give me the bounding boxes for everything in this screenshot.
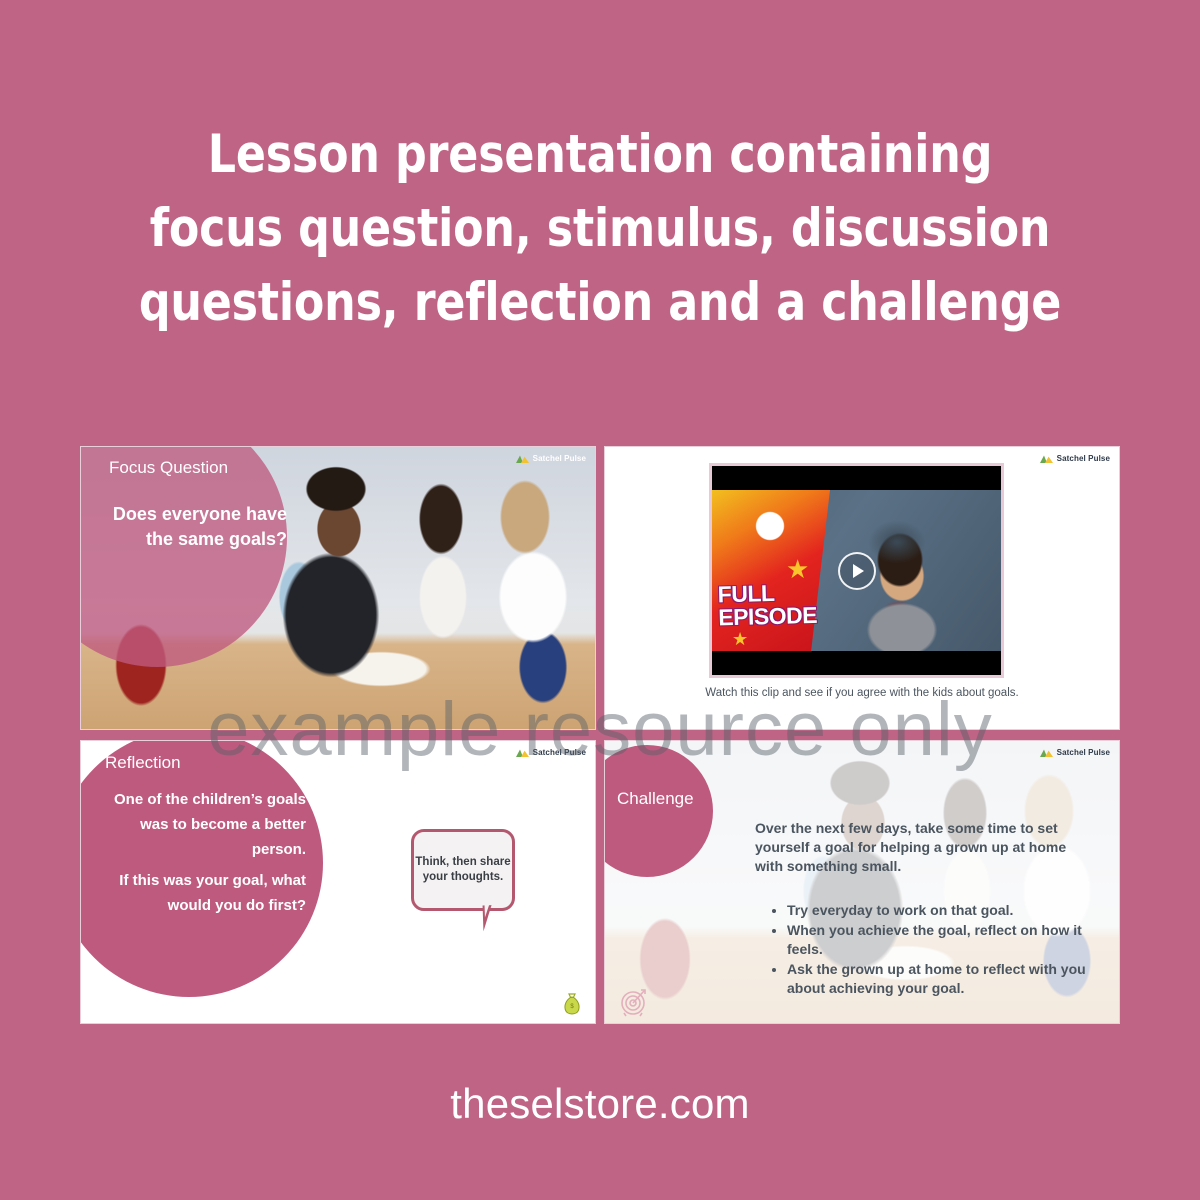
- star-icon: ★: [786, 556, 809, 582]
- reflection-paragraph-2: If this was your goal, what would you do…: [101, 868, 306, 918]
- brand-logo-text: Satchel Pulse: [533, 748, 586, 757]
- challenge-bullet-list: Try everyday to work on that goal. When …: [763, 901, 1117, 999]
- mountain-icon: [516, 454, 529, 463]
- challenge-bullet: When you achieve the goal, reflect on ho…: [787, 921, 1117, 959]
- brand-logo-text: Satchel Pulse: [1057, 748, 1110, 757]
- challenge-bullet: Try everyday to work on that goal.: [787, 901, 1117, 920]
- stimulus-caption: Watch this clip and see if you agree wit…: [605, 687, 1119, 699]
- page-title: Lesson presentation containing focus que…: [42, 118, 1158, 340]
- mountain-icon: [1040, 454, 1053, 463]
- reflection-paragraph-1: One of the children’s goals was to becom…: [101, 787, 306, 862]
- focus-question-text: Does everyone have the same goals?: [103, 502, 287, 552]
- full-episode-badge-text: FULL EPISODE: [717, 581, 826, 630]
- mountain-icon: [1040, 748, 1053, 757]
- slide-challenge[interactable]: Challenge Over the next few days, take s…: [604, 740, 1120, 1024]
- mountain-icon: [516, 748, 529, 757]
- money-bag-icon: $: [563, 993, 581, 1015]
- page-title-line-1: Lesson presentation containing: [42, 118, 1158, 192]
- slide-focus-question[interactable]: Focus Question Does everyone have the sa…: [80, 446, 596, 730]
- speech-bubble-text: Think, then share your thoughts.: [414, 855, 512, 885]
- slide-kicker-focus-question: Focus Question: [109, 458, 228, 478]
- footer-site-url: theselstore.com: [0, 1080, 1200, 1128]
- brand-logo: Satchel Pulse: [1040, 454, 1110, 463]
- brand-logo: Satchel Pulse: [516, 748, 586, 757]
- slide-stimulus[interactable]: ★ ★ FULL EPISODE Watch this clip and see…: [604, 446, 1120, 730]
- badge-line-2: EPISODE: [718, 602, 817, 631]
- page-title-line-2: focus question, stimulus, discussion: [42, 192, 1158, 266]
- play-icon[interactable]: [838, 552, 876, 590]
- speech-bubble-tail: [483, 905, 509, 932]
- page-title-line-3: questions, reflection and a challenge: [42, 266, 1158, 340]
- star-icon: ★: [732, 630, 748, 648]
- slide-kicker-reflection: Reflection: [105, 753, 181, 773]
- video-thumbnail[interactable]: ★ ★ FULL EPISODE: [709, 463, 1004, 678]
- slide-grid: Focus Question Does everyone have the sa…: [80, 446, 1120, 1026]
- reflection-body: One of the children’s goals was to becom…: [101, 787, 306, 924]
- slide-kicker-challenge: Challenge: [617, 789, 694, 809]
- target-icon: [619, 985, 651, 1017]
- brand-logo: Satchel Pulse: [1040, 748, 1110, 757]
- brand-logo-text: Satchel Pulse: [533, 454, 586, 463]
- challenge-bullet: Ask the grown up at home to reflect with…: [787, 960, 1117, 998]
- video-still: ★ ★ FULL EPISODE: [712, 490, 1001, 651]
- brand-logo-text: Satchel Pulse: [1057, 454, 1110, 463]
- slide-reflection[interactable]: Reflection One of the children’s goals w…: [80, 740, 596, 1024]
- speech-bubble: Think, then share your thoughts.: [411, 829, 515, 911]
- challenge-intro: Over the next few days, take some time t…: [755, 819, 1085, 876]
- brand-logo: Satchel Pulse: [516, 454, 586, 463]
